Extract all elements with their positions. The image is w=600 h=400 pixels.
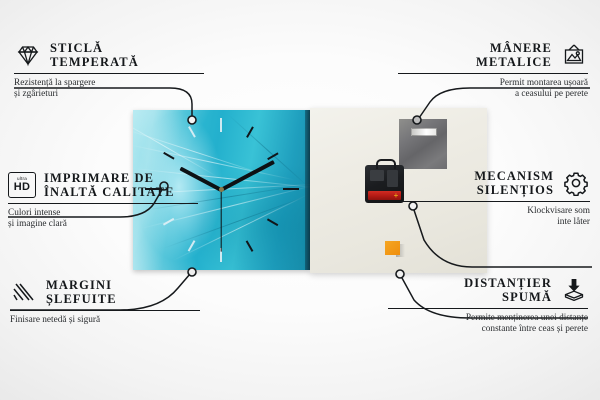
callout-subtitle: Klockvisare som inte låter: [400, 206, 590, 229]
product-infographic: +: [0, 0, 600, 400]
callout-header: ultra HD IMPRIMARE DE ÎNALTĂ CALITATE: [8, 170, 198, 200]
callout-header: DISTANȚIER SPUMĂ: [388, 275, 588, 305]
callout-sticla-temperata: STICLĂ TEMPERATĂ Rezistență la spargere …: [14, 40, 204, 101]
callout-rule: [10, 310, 200, 311]
movement-detail: [387, 170, 398, 187]
callout-header: MECANISM SILENȚIOS: [400, 168, 590, 198]
callout-title: MARGINI ȘLEFUITE: [46, 278, 117, 306]
tick-12: [220, 118, 222, 132]
picture-hanger-icon: [560, 41, 588, 69]
tick-7: [188, 240, 195, 251]
callout-distantier-spuma: DISTANȚIER SPUMĂ Permite menținerea unei…: [388, 275, 588, 336]
callout-header: STICLĂ TEMPERATĂ: [14, 40, 204, 70]
callout-title: MECANISM SILENȚIOS: [474, 169, 554, 197]
callout-rule: [388, 308, 588, 309]
callout-rule: [14, 73, 204, 74]
callout-header: MARGINI ȘLEFUITE: [10, 277, 200, 307]
clock-movement: +: [365, 165, 404, 203]
callout-margini-slefuite: MARGINI ȘLEFUITE Finisare netedă și sigu…: [10, 277, 200, 326]
tick-11: [188, 126, 195, 137]
callout-title: MÂNERE METALICE: [476, 41, 552, 69]
callout-imprimare-calitate: ultra HD IMPRIMARE DE ÎNALTĂ CALITATE Cu…: [8, 170, 198, 231]
beveled-edges-icon: [10, 278, 38, 306]
ultra-hd-icon: ultra HD: [8, 171, 36, 199]
tick-2: [267, 152, 278, 159]
callout-mecanism-silentios: MECANISM SILENȚIOS Klockvisare som inte …: [400, 168, 590, 229]
metal-hanger-plate: [399, 119, 447, 169]
callout-subtitle: Finisare netedă și sigură: [10, 315, 200, 326]
battery: +: [368, 191, 401, 200]
tick-1: [246, 126, 253, 137]
ultra-hd-large-label: HD: [14, 182, 31, 193]
callout-rule: [398, 73, 588, 74]
gear-icon: [562, 169, 590, 197]
callout-subtitle: Permit montarea ușoară a ceasului pe per…: [398, 78, 588, 101]
movement-detail: [370, 170, 384, 181]
callout-manere-metalice: MÂNERE METALICE Permit montarea ușoară a…: [398, 40, 588, 101]
callout-subtitle: Rezistență la spargere și zgârieturi: [14, 78, 204, 101]
callout-header: MÂNERE METALICE: [398, 40, 588, 70]
minute-hand: [220, 160, 275, 192]
callout-title: STICLĂ TEMPERATĂ: [50, 41, 139, 69]
callout-rule: [8, 203, 198, 204]
callout-title: IMPRIMARE DE ÎNALTĂ CALITATE: [44, 171, 175, 199]
callout-rule: [400, 201, 590, 202]
tick-5: [246, 240, 253, 251]
hanger-slot: [411, 128, 437, 136]
movement-hanging-loop: [376, 159, 396, 169]
callout-subtitle: Culori intense și imagine clară: [8, 208, 198, 231]
second-hand: [220, 190, 221, 252]
callout-subtitle: Permite menținerea unei distanțe constan…: [388, 313, 588, 336]
foam-spacer: [385, 241, 400, 255]
tick-4: [267, 218, 278, 225]
hand-center-cap: [219, 187, 224, 192]
tick-3: [283, 188, 299, 190]
callout-title: DISTANȚIER SPUMĂ: [464, 276, 552, 304]
tick-10: [163, 152, 174, 159]
battery-plus-marking: +: [393, 192, 399, 199]
diamond-icon: [14, 41, 42, 69]
foam-spacer-icon: [560, 276, 588, 304]
